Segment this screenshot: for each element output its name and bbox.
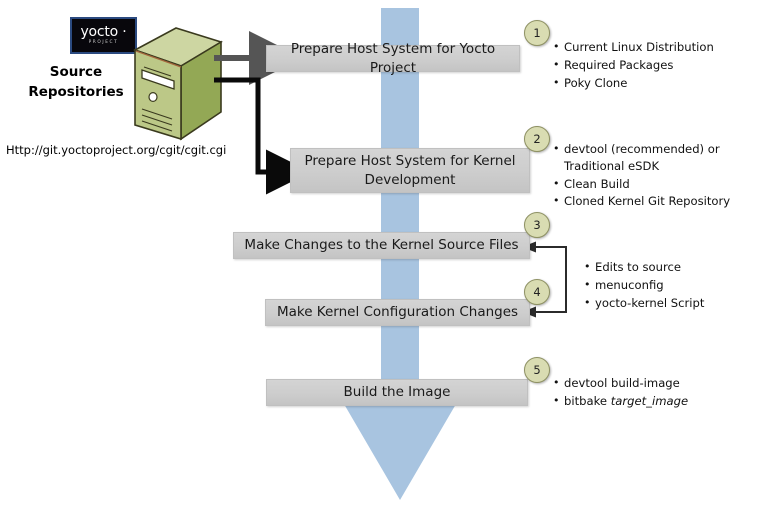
step-box-4-line1: Make Kernel Configuration Changes [277,303,518,321]
note-item: yocto-kernel Script [583,295,704,312]
workflow-diagram: yocto · PROJECT Source Repositories Http… [0,0,769,517]
source-repositories-label: Source Repositories [16,63,136,102]
step-badge-5-number: 5 [533,363,540,377]
notes-step-1: Current Linux Distribution Required Pack… [552,39,714,92]
server-tower-icon [131,26,223,144]
step-box-5-line1: Build the Image [344,383,451,401]
note-item: Edits to source [583,259,704,276]
step-box-2-line2: Development [365,171,456,189]
step-box-5[interactable]: Build the Image [266,379,528,406]
step-box-3[interactable]: Make Changes to the Kernel Source Files [233,232,530,259]
step-box-1-line1: Prepare Host System for Yocto Project [275,40,511,76]
note-item: menuconfig [583,277,704,294]
yocto-project-logo: yocto · PROJECT [70,17,137,54]
source-label-line1: Source [16,63,136,83]
note-item: Poky Clone [552,75,714,92]
step-badge-4-number: 4 [533,285,540,299]
step-box-4[interactable]: Make Kernel Configuration Changes [265,299,530,326]
step-badge-1: 1 [524,20,550,46]
notes-step-2: devtool (recommended) or Traditional eSD… [552,141,730,211]
note-item: Cloned Kernel Git Repository [552,193,730,210]
note-item: devtool (recommended) or Traditional eSD… [552,141,730,175]
logo-wordmark: yocto · [80,25,126,39]
step-box-1[interactable]: Prepare Host System for Yocto Project [266,45,520,72]
step-badge-5: 5 [524,357,550,383]
note-item: Current Linux Distribution [552,39,714,56]
repository-url: Http://git.yoctoproject.org/cgit/cgit.cg… [6,143,226,157]
logo-subtext: PROJECT [89,41,119,45]
step-badge-3: 3 [524,212,550,238]
note-item: bitbake target_image [552,393,688,410]
notes-steps-3-4: Edits to source menuconfig yocto-kernel … [583,259,704,312]
source-label-line2: Repositories [16,83,136,103]
step-box-2[interactable]: Prepare Host System for Kernel Developme… [290,148,530,193]
step-badge-2-number: 2 [533,132,540,146]
note-item: devtool build-image [552,375,688,392]
step-box-2-line1: Prepare Host System for Kernel [304,152,515,170]
step-badge-3-number: 3 [533,218,540,232]
step-badge-1-number: 1 [533,26,540,40]
notes-step-5: devtool build-image bitbake target_image [552,375,688,411]
note-item: Clean Build [552,176,730,193]
step-box-3-line1: Make Changes to the Kernel Source Files [244,236,518,254]
step-badge-4: 4 [524,279,550,305]
step-badge-2: 2 [524,126,550,152]
note-item: Required Packages [552,57,714,74]
